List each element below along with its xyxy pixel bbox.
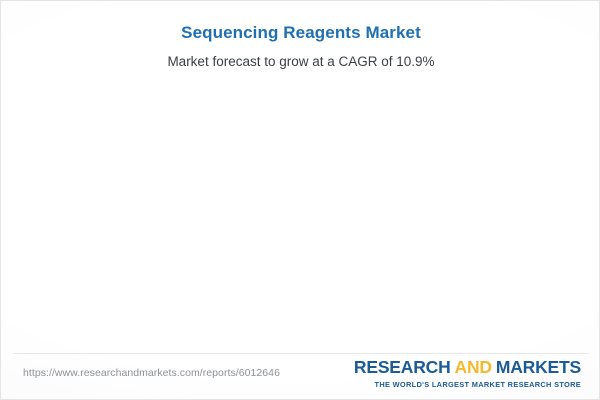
chart-card: Sequencing Reagents Market Market foreca…	[0, 0, 600, 400]
logo-word-research: RESEARCH	[354, 357, 451, 377]
logo-wordmark: RESEARCHANDMARKETS	[354, 359, 581, 377]
footer-divider	[13, 353, 589, 354]
report-url[interactable]: https://www.researchandmarkets.com/repor…	[23, 367, 280, 379]
logo-tagline: THE WORLD'S LARGEST MARKET RESEARCH STOR…	[354, 380, 581, 389]
logo-word-markets: MARKETS	[496, 357, 581, 377]
research-and-markets-logo[interactable]: RESEARCHANDMARKETS THE WORLD'S LARGEST M…	[354, 359, 581, 389]
logo-word-and: AND	[455, 357, 492, 377]
plot-area: USD 6.2 Billion 2025 USD 12.8 Billion	[1, 1, 600, 349]
